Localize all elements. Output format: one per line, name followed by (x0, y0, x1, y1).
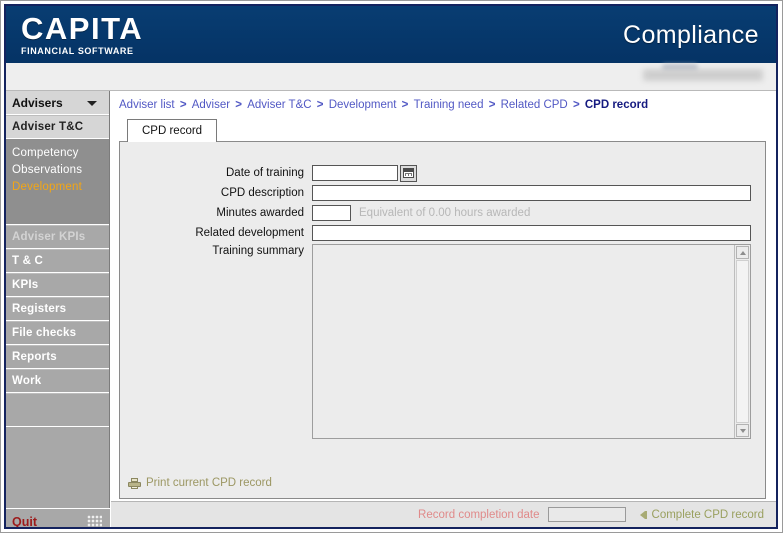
tab-bar: CPD record (119, 119, 766, 141)
breadcrumb-item-related-cpd[interactable]: Related CPD (501, 99, 568, 111)
sidebar-header-advisers[interactable]: Advisers (6, 91, 109, 115)
sidebar: Advisers Adviser T&C Competency Observat… (6, 91, 110, 529)
breadcrumb-separator: > (571, 99, 582, 111)
breadcrumb-separator: > (178, 99, 189, 111)
chevron-up-icon (740, 251, 746, 255)
capita-logo: CAPITA FINANCIAL SOFTWARE (21, 13, 143, 56)
brand-banner: CAPITA FINANCIAL SOFTWARE Compliance (6, 6, 776, 63)
sidebar-item-label: T & C (12, 255, 43, 267)
sidebar-filler (6, 393, 109, 427)
sidebar-item-work[interactable]: Work (6, 369, 109, 393)
sidebar-item-label: File checks (12, 327, 76, 339)
print-cpd-record-link[interactable]: Print current CPD record (128, 477, 272, 489)
quit-button[interactable]: Quit (6, 508, 110, 529)
sidebar-header-label: Advisers (12, 96, 63, 110)
label-minutes-awarded: Minutes awarded (120, 207, 312, 219)
breadcrumb-item-adviser[interactable]: Adviser (192, 99, 230, 111)
sidebar-item-kpis[interactable]: KPIs (6, 273, 109, 297)
tab-cpd-record[interactable]: CPD record (127, 119, 217, 142)
sidebar-item-label: Adviser T&C (12, 121, 83, 133)
sidebar-subgroup: Competency Observations Development (6, 139, 109, 225)
step-back-icon (640, 511, 647, 519)
sidebar-subitem-competency[interactable]: Competency (6, 145, 109, 162)
minutes-awarded-input[interactable] (312, 205, 351, 221)
scroll-up-button[interactable] (736, 246, 749, 259)
calendar-picker-button[interactable] (400, 165, 417, 182)
breadcrumb-separator: > (233, 99, 244, 111)
breadcrumb-current: CPD record (585, 99, 648, 111)
sidebar-subitem-observations[interactable]: Observations (6, 162, 109, 179)
window-inner: CAPITA FINANCIAL SOFTWARE Compliance Adv… (4, 4, 778, 529)
user-strip (6, 63, 776, 91)
breadcrumb-separator: > (487, 99, 498, 111)
sidebar-item-registers[interactable]: Registers (6, 297, 109, 321)
calendar-icon (403, 168, 414, 178)
breadcrumb: Adviser list > Adviser > Adviser T&C > D… (111, 91, 776, 119)
sidebar-item-tc[interactable]: T & C (6, 249, 109, 273)
module-title: Compliance (623, 21, 759, 50)
sidebar-item-label: Work (12, 375, 41, 387)
complete-cpd-record-label: Complete CPD record (652, 509, 764, 521)
cpd-form: Date of training CPD description (120, 142, 765, 439)
field-row-cpd-description: CPD description (120, 184, 765, 202)
sidebar-item-adviser-tc[interactable]: Adviser T&C (6, 115, 109, 139)
label-training-summary: Training summary (120, 244, 312, 257)
training-summary-textarea[interactable] (312, 244, 751, 439)
breadcrumb-separator: > (315, 99, 326, 111)
sidebar-item-label: Adviser KPIs (12, 231, 85, 243)
content-pane: Adviser list > Adviser > Adviser T&C > D… (111, 91, 776, 529)
training-summary-scrollbar[interactable] (734, 245, 750, 438)
date-of-training-input[interactable] (312, 165, 398, 181)
resize-grip-icon[interactable] (87, 515, 102, 529)
record-completion-date-input[interactable] (548, 507, 626, 522)
logo-wordmark: CAPITA (21, 13, 143, 44)
sidebar-item-label: Reports (12, 351, 57, 363)
chevron-down-icon (740, 429, 746, 433)
label-date-of-training: Date of training (120, 167, 312, 179)
username-redacted (643, 69, 763, 81)
field-row-related-development: Related development (120, 224, 765, 242)
sidebar-item-reports[interactable]: Reports (6, 345, 109, 369)
footer-action-bar: Record completion date Complete CPD reco… (111, 501, 776, 527)
minutes-equivalent-hint: Equivalent of 0.00 hours awarded (359, 207, 530, 219)
chevron-down-icon (87, 101, 97, 106)
complete-cpd-record-button[interactable]: Complete CPD record (640, 509, 764, 521)
application-window: CAPITA FINANCIAL SOFTWARE Compliance Adv… (0, 0, 783, 533)
sidebar-item-adviser-kpis[interactable]: Adviser KPIs (6, 225, 109, 249)
print-link-label: Print current CPD record (146, 477, 272, 489)
sidebar-subitem-label: Observations (12, 164, 82, 176)
sidebar-item-label: KPIs (12, 279, 38, 291)
quit-label: Quit (12, 515, 37, 529)
related-development-input[interactable] (312, 225, 751, 241)
breadcrumb-item-adviser-list[interactable]: Adviser list (119, 99, 175, 111)
body-area: Advisers Adviser T&C Competency Observat… (6, 91, 776, 529)
field-row-minutes-awarded: Minutes awarded Equivalent of 0.00 hours… (120, 204, 765, 222)
breadcrumb-item-training-need[interactable]: Training need (414, 99, 484, 111)
breadcrumb-separator: > (400, 99, 411, 111)
scrollbar-track[interactable] (736, 260, 749, 423)
sidebar-item-label: Registers (12, 303, 66, 315)
logo-tagline: FINANCIAL SOFTWARE (21, 47, 143, 56)
breadcrumb-item-adviser-tc[interactable]: Adviser T&C (247, 99, 311, 111)
sidebar-subitem-label: Competency (12, 147, 79, 159)
sidebar-item-file-checks[interactable]: File checks (6, 321, 109, 345)
tab-label: CPD record (142, 125, 202, 137)
record-completion-date-label: Record completion date (418, 509, 539, 521)
label-cpd-description: CPD description (120, 187, 312, 199)
printer-icon (128, 478, 141, 489)
field-row-date-of-training: Date of training (120, 164, 765, 182)
label-related-development: Related development (120, 227, 312, 239)
field-row-training-summary: Training summary (120, 244, 765, 439)
cpd-record-panel: Date of training CPD description (119, 141, 766, 499)
sidebar-subitem-development[interactable]: Development (6, 179, 109, 196)
breadcrumb-item-development[interactable]: Development (329, 99, 397, 111)
sidebar-subitem-label: Development (12, 181, 82, 193)
scroll-down-button[interactable] (736, 424, 749, 437)
cpd-description-input[interactable] (312, 185, 751, 201)
